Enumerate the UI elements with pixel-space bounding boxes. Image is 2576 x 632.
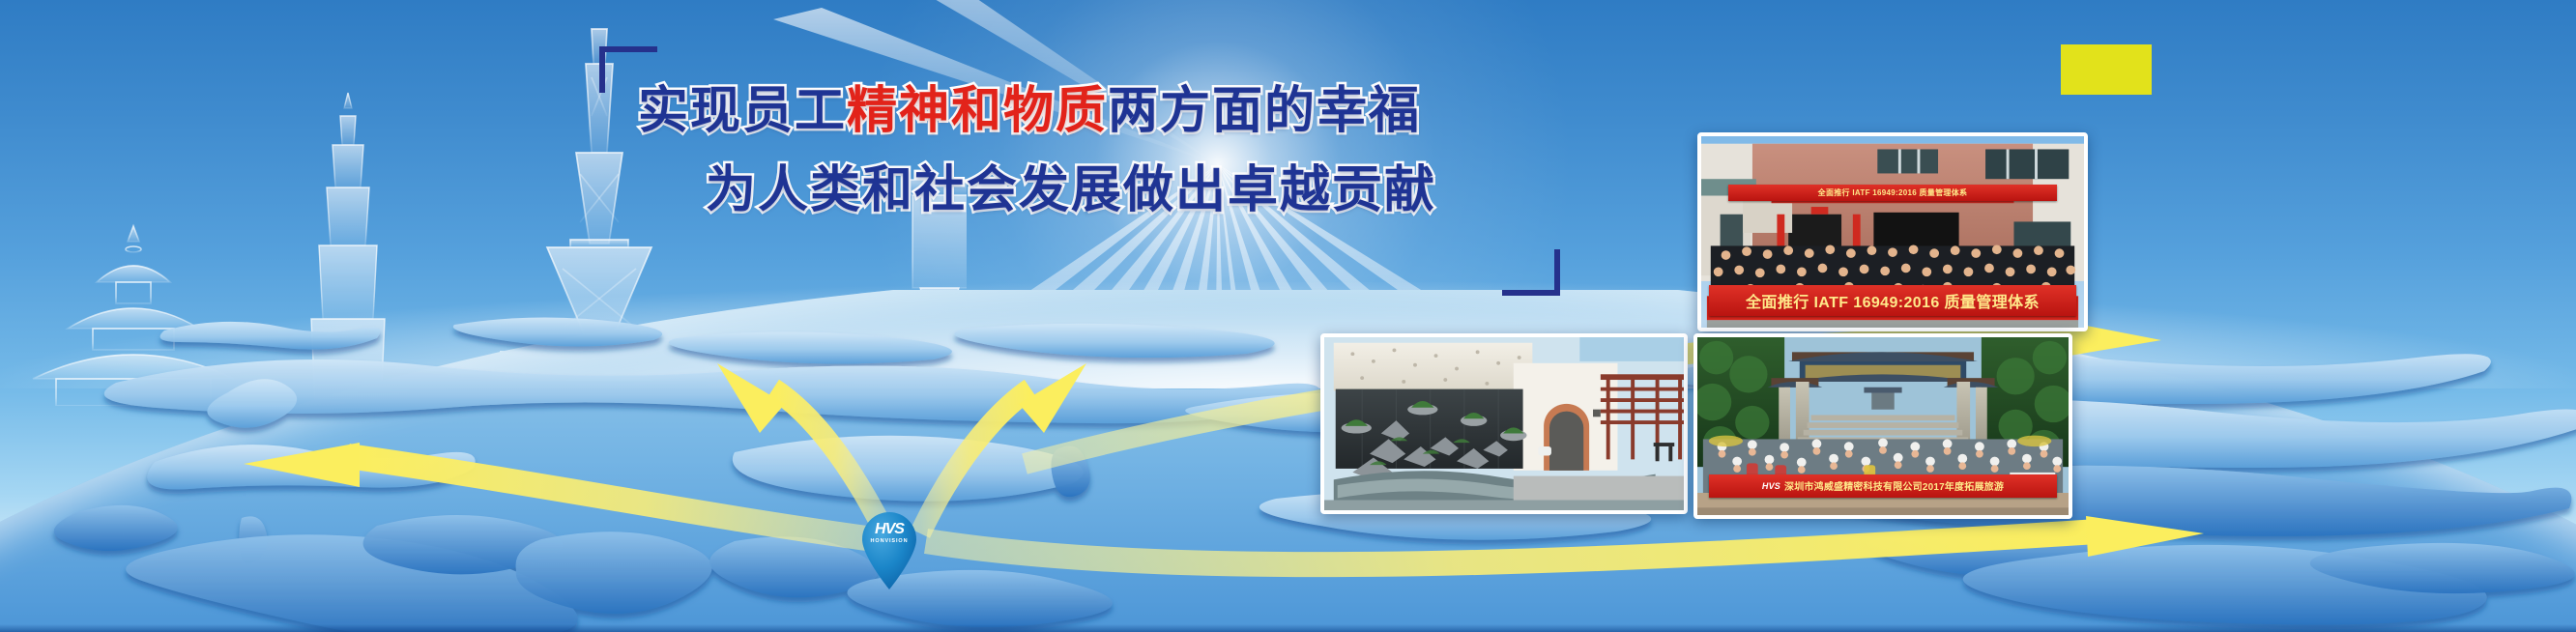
- headline-block: 实现员工精神和物质两方面的幸福 为人类和社会发展做出卓越贡献: [599, 46, 1547, 269]
- map-pin-icon[interactable]: HVS HONVISION: [856, 506, 922, 589]
- photo-rooftop-garden[interactable]: [1320, 333, 1688, 514]
- accent-rectangle: [2061, 44, 2152, 95]
- map-pin-shape: [856, 506, 922, 589]
- globe: [0, 290, 2576, 632]
- photo-banner-wall: 全面推行 IATF 16949:2016 质量管理体系: [1728, 185, 2058, 202]
- photo-outdoor-trip[interactable]: HVS 深圳市鸿威盛精密科技有限公司2017年度拓展旅游: [1693, 333, 2072, 519]
- company-culture-banner: HVS HONVISION 实现员工精神和物质两方面的幸福 为人类和社会发展做出…: [0, 0, 2576, 632]
- photo-rooftop-garden-image: [1324, 337, 1684, 510]
- photo-banner-logo: HVS: [1762, 481, 1780, 491]
- headline-line-2: 为人类和社会发展做出卓越贡献: [706, 149, 1436, 221]
- photo-iatf-group[interactable]: 全面推行 IATF 16949:2016 质量管理体系 全面推行 IATF 16…: [1697, 132, 2088, 331]
- bottom-edge-fade: [0, 624, 2576, 632]
- headline-line1-part2: 精神和物质: [847, 82, 1108, 140]
- headline-line2-part1: 为人类和社会发展做出卓越贡献: [706, 161, 1436, 219]
- headline-line1-part3: 两方面的幸福: [1108, 82, 1421, 140]
- headline-line1-part1: 实现员工: [638, 82, 847, 140]
- photo-banner-trip: HVS 深圳市鸿威盛精密科技有限公司2017年度拓展旅游: [1709, 474, 2058, 498]
- photo-banner-trip-text: 深圳市鸿威盛精密科技有限公司2017年度拓展旅游: [1784, 478, 2004, 493]
- photo-banner-foreground: 全面推行 IATF 16949:2016 质量管理体系: [1709, 285, 2076, 316]
- globe-sphere: [0, 290, 2576, 632]
- headline-line-1: 实现员工精神和物质两方面的幸福: [638, 70, 1421, 142]
- bracket-bottom-right-icon: [1502, 249, 1560, 296]
